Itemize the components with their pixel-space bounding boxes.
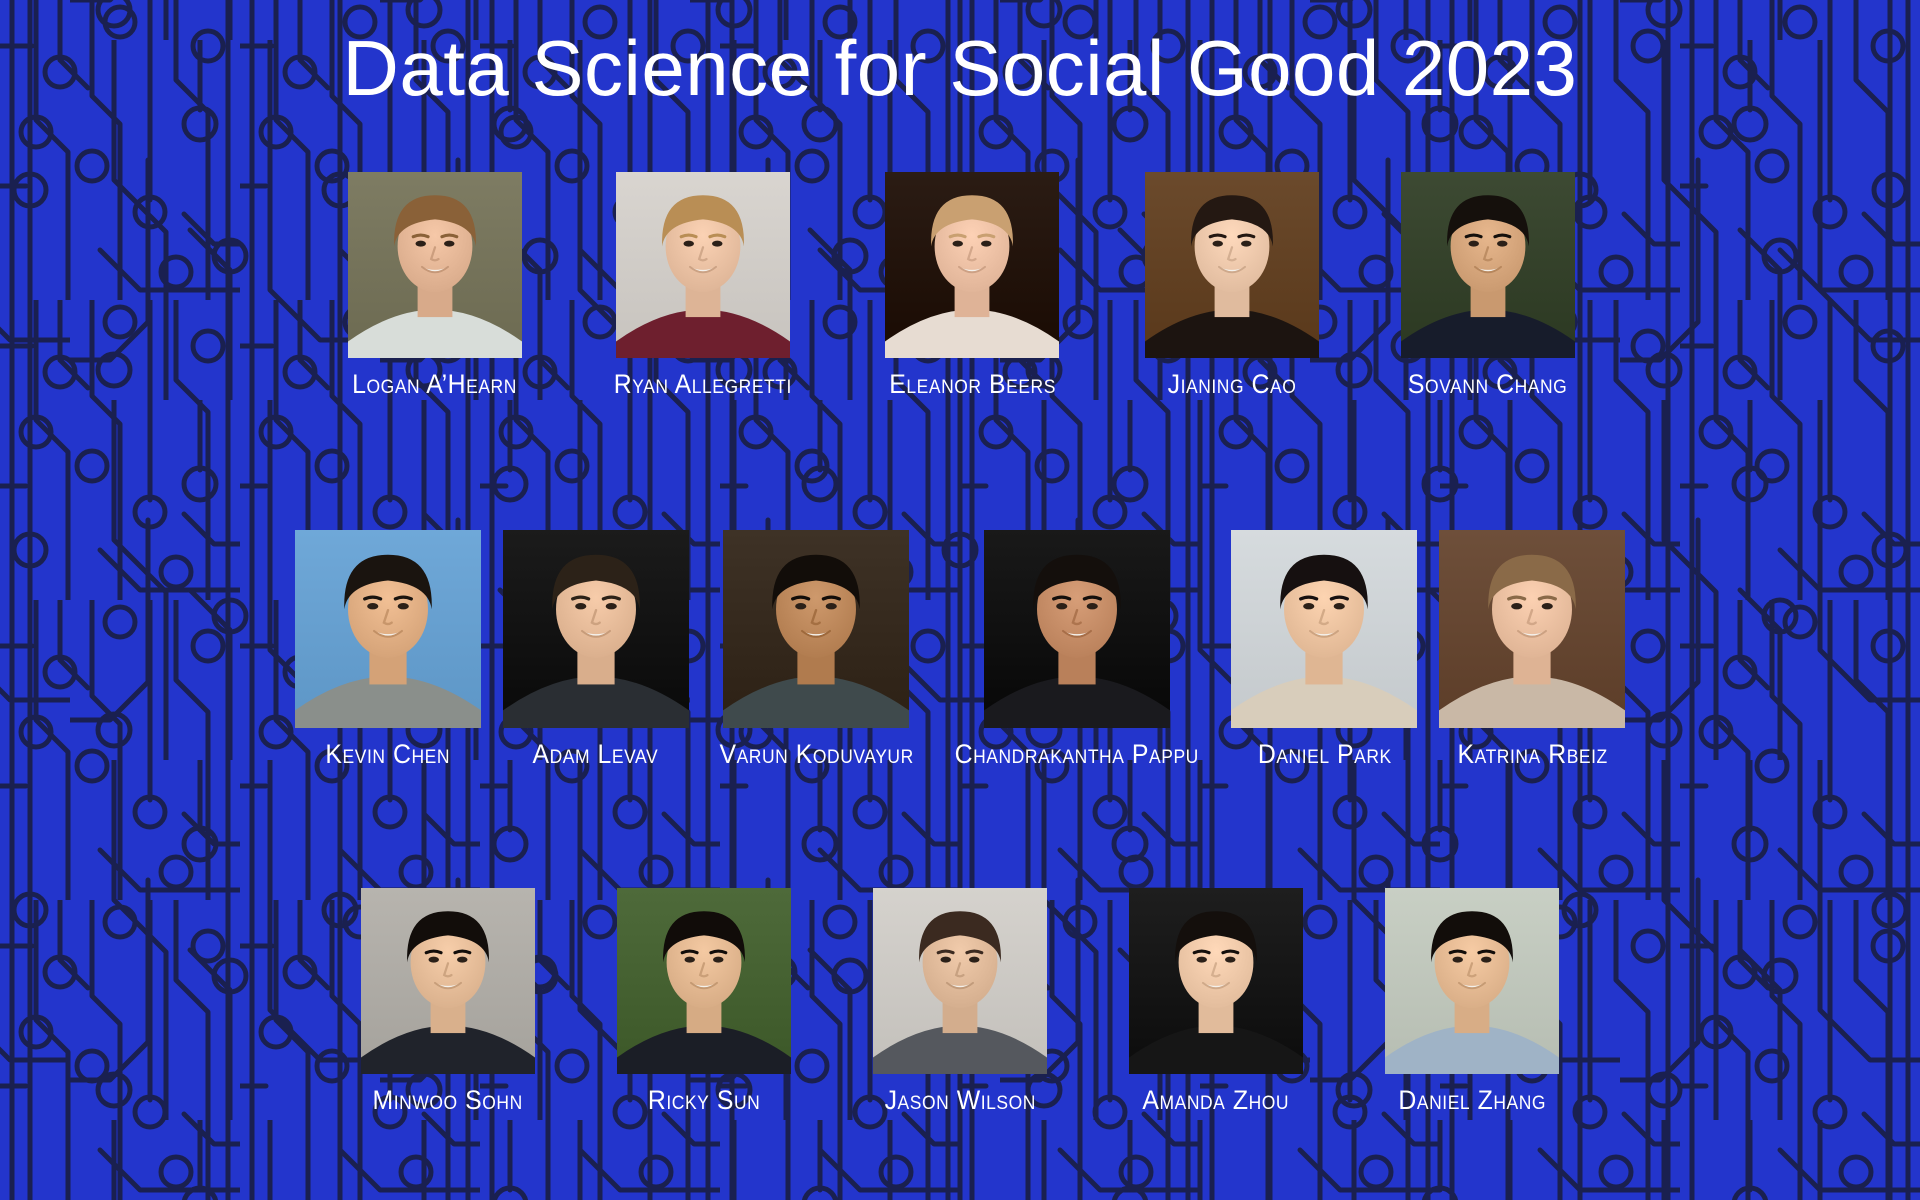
person-name: Ricky Sun [648,1084,760,1116]
person-card: Amanda Zhou [1129,888,1303,1116]
headshot-kevin-chen [295,530,481,728]
people-grid: Logan A’Hearn [0,0,1920,1200]
person-name: Eleanor Beers [889,368,1056,400]
person-name: Logan A’Hearn [352,368,517,400]
person-name: Kevin Chen [325,738,450,770]
person-card: Jianing Cao [1145,172,1319,400]
person-card: Minwoo Sohn [361,888,535,1116]
poster-title: Data Science for Social Good 2023 [0,18,1920,118]
poster-canvas: Data Science for Social Good 2023 [0,0,1920,1200]
headshot-adam-levav [503,530,689,728]
headshot-jianing-cao [1145,172,1319,358]
person-card: Eleanor Beers [882,172,1063,400]
headshot-logan-ahearn [348,172,522,358]
headshot-katrina-rbeiz [1439,530,1625,728]
person-name: Adam Levav [533,738,659,770]
headshot-varun-koduvayur [723,530,909,728]
person-name: Daniel Zhang [1398,1084,1546,1116]
person-card: Ricky Sun [617,888,791,1116]
person-card: Sovann Chang [1401,172,1575,400]
person-card: Ryan Allegretti [606,172,800,400]
person-name: Chandrakantha Pappu [954,738,1198,770]
person-name: Daniel Park [1257,738,1391,770]
person-name: Jianing Cao [1168,368,1297,400]
person-name: Sovann Chang [1408,368,1567,400]
headshot-sovann-chang [1401,172,1575,358]
people-row-2: Kevin Chen [0,530,1920,770]
person-card: Adam Levav [503,530,689,770]
headshot-minwoo-sohn [361,888,535,1074]
people-row-3: Minwoo Sohn [0,888,1920,1116]
person-name: Ryan Allegretti [614,368,792,400]
headshot-daniel-park [1231,530,1417,728]
person-name: Varun Koduvayur [719,738,913,770]
headshot-ryan-allegretti [616,172,790,358]
headshot-eleanor-beers [885,172,1059,358]
headshot-ricky-sun [617,888,791,1074]
headshot-amanda-zhou [1129,888,1303,1074]
person-card: Varun Koduvayur [711,530,922,770]
person-name: Katrina Rbeiz [1457,738,1607,770]
person-name: Amanda Zhou [1143,1084,1290,1116]
person-card: Chandrakantha Pappu [944,530,1209,770]
headshot-daniel-zhang [1385,888,1559,1074]
person-card: Jason Wilson [873,888,1047,1116]
person-name: Jason Wilson [884,1084,1035,1116]
person-card: Daniel Zhang [1385,888,1559,1116]
person-card: Logan A’Hearn [345,172,524,400]
person-card: Kevin Chen [295,530,481,770]
headshot-jason-wilson [873,888,1047,1074]
people-row-1: Logan A’Hearn [0,172,1920,400]
person-card: Katrina Rbeiz [1439,530,1625,770]
person-card: Daniel Park [1231,530,1417,770]
headshot-chandrakantha-pappu [984,530,1170,728]
person-name: Minwoo Sohn [373,1084,523,1116]
